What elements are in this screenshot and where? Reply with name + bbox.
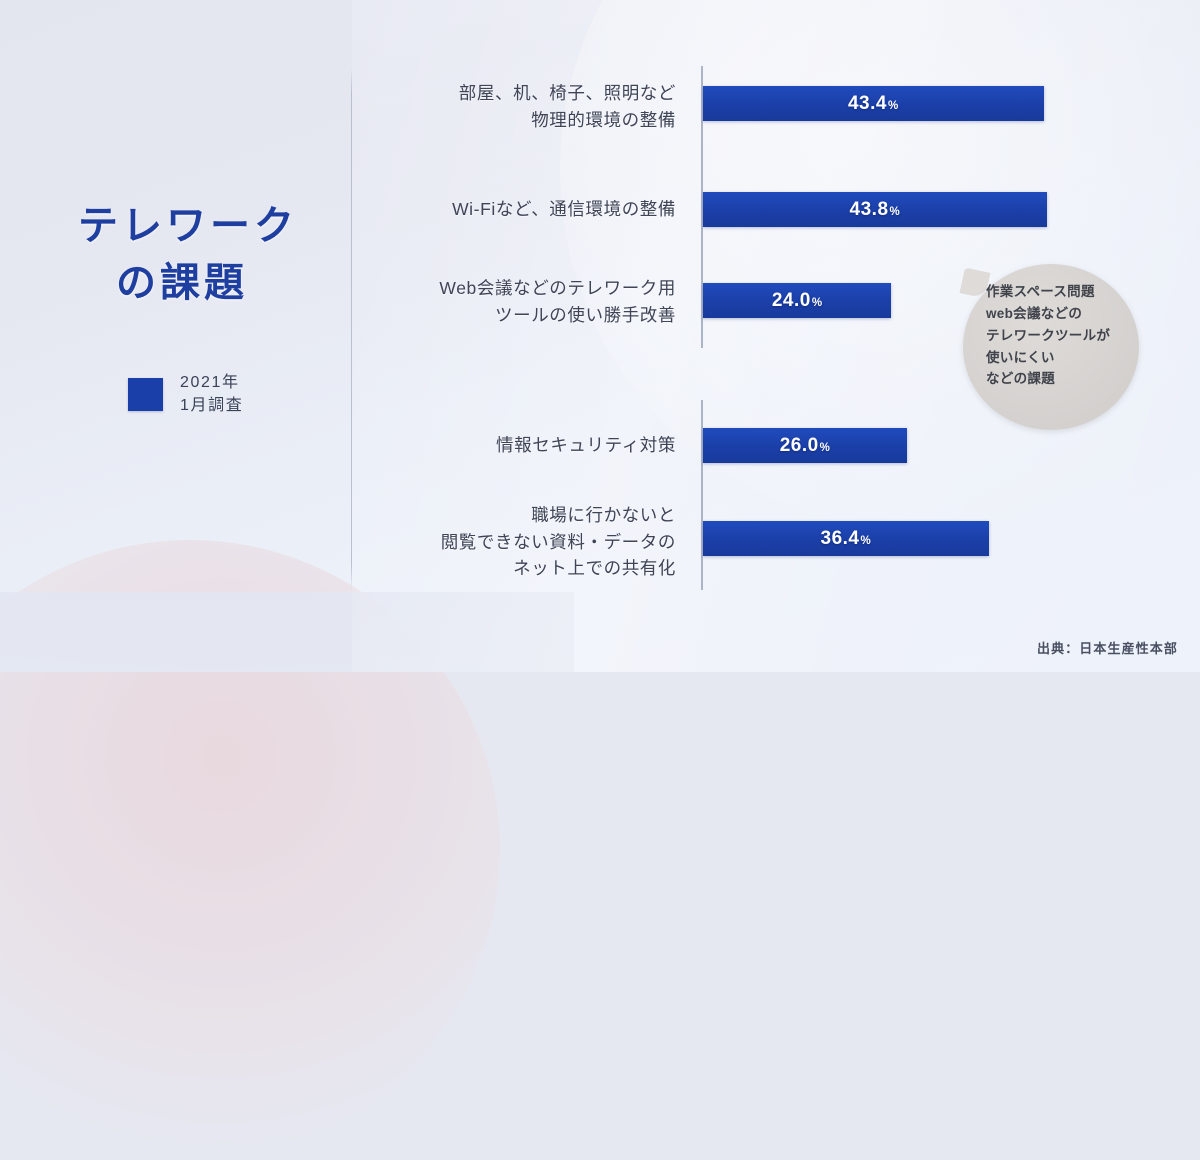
category-label-line: 職場に行かないと: [346, 502, 676, 529]
chart-bar: 43.8%: [703, 192, 1047, 227]
bar-value-label: 43.8%: [850, 199, 901, 221]
bar-value-number: 36.4: [821, 528, 860, 550]
bar-value-label: 26.0%: [780, 435, 831, 457]
category-label: Web会議などのテレワーク用ツールの使い勝手改善: [346, 275, 676, 328]
bar-value-suffix: %: [890, 206, 901, 218]
chart-bar: 43.4%: [703, 86, 1044, 121]
bar-value-number: 24.0: [772, 290, 811, 312]
category-label: 情報セキュリティ対策: [346, 432, 676, 459]
category-label-line: 部屋、机、椅子、照明など: [346, 80, 676, 107]
source-note: 出典：日本生産性本部: [1037, 638, 1178, 657]
category-label-line: Web会議などのテレワーク用: [346, 275, 676, 302]
category-label-line: 物理的環境の整備: [346, 107, 676, 134]
callout-text-line: テレワークツールが: [986, 325, 1136, 347]
bar-value-number: 43.8: [850, 199, 889, 221]
category-label-line: Wi-Fiなど、通信環境の整備: [346, 196, 676, 223]
bar-value-suffix: %: [812, 297, 823, 309]
bar-value-suffix: %: [820, 442, 831, 454]
callout-text-line: 作業スペース問題: [986, 281, 1136, 303]
bar-value-number: 43.4: [848, 93, 887, 115]
bar-value-number: 26.0: [780, 435, 819, 457]
category-label: 部屋、机、椅子、照明など物理的環境の整備: [346, 80, 676, 133]
category-label: Wi-Fiなど、通信環境の整備: [346, 196, 676, 223]
category-label-line: 閲覧できない資料・データの: [346, 529, 676, 556]
callout-text-line: 使いにくい: [986, 347, 1136, 369]
chart-bar: 36.4%: [703, 521, 989, 556]
bar-value-label: 36.4%: [821, 528, 872, 550]
bar-value-label: 24.0%: [772, 290, 823, 312]
callout-text-line: などの課題: [986, 368, 1136, 390]
callout-text: 作業スペース問題web会議などのテレワークツールが使いにくいなどの課題: [986, 281, 1136, 390]
chart-bar: 24.0%: [703, 283, 891, 318]
bar-value-suffix: %: [888, 100, 899, 112]
bar-value-label: 43.4%: [848, 93, 899, 115]
category-label-line: ネット上での共有化: [346, 555, 676, 582]
bar-value-suffix: %: [860, 535, 871, 547]
category-label: 職場に行かないと閲覧できない資料・データのネット上での共有化: [346, 502, 676, 582]
category-label-line: ツールの使い勝手改善: [346, 302, 676, 329]
chart-bar: 26.0%: [703, 428, 907, 463]
category-label-line: 情報セキュリティ対策: [346, 432, 676, 459]
callout-text-line: web会議などの: [986, 303, 1136, 325]
